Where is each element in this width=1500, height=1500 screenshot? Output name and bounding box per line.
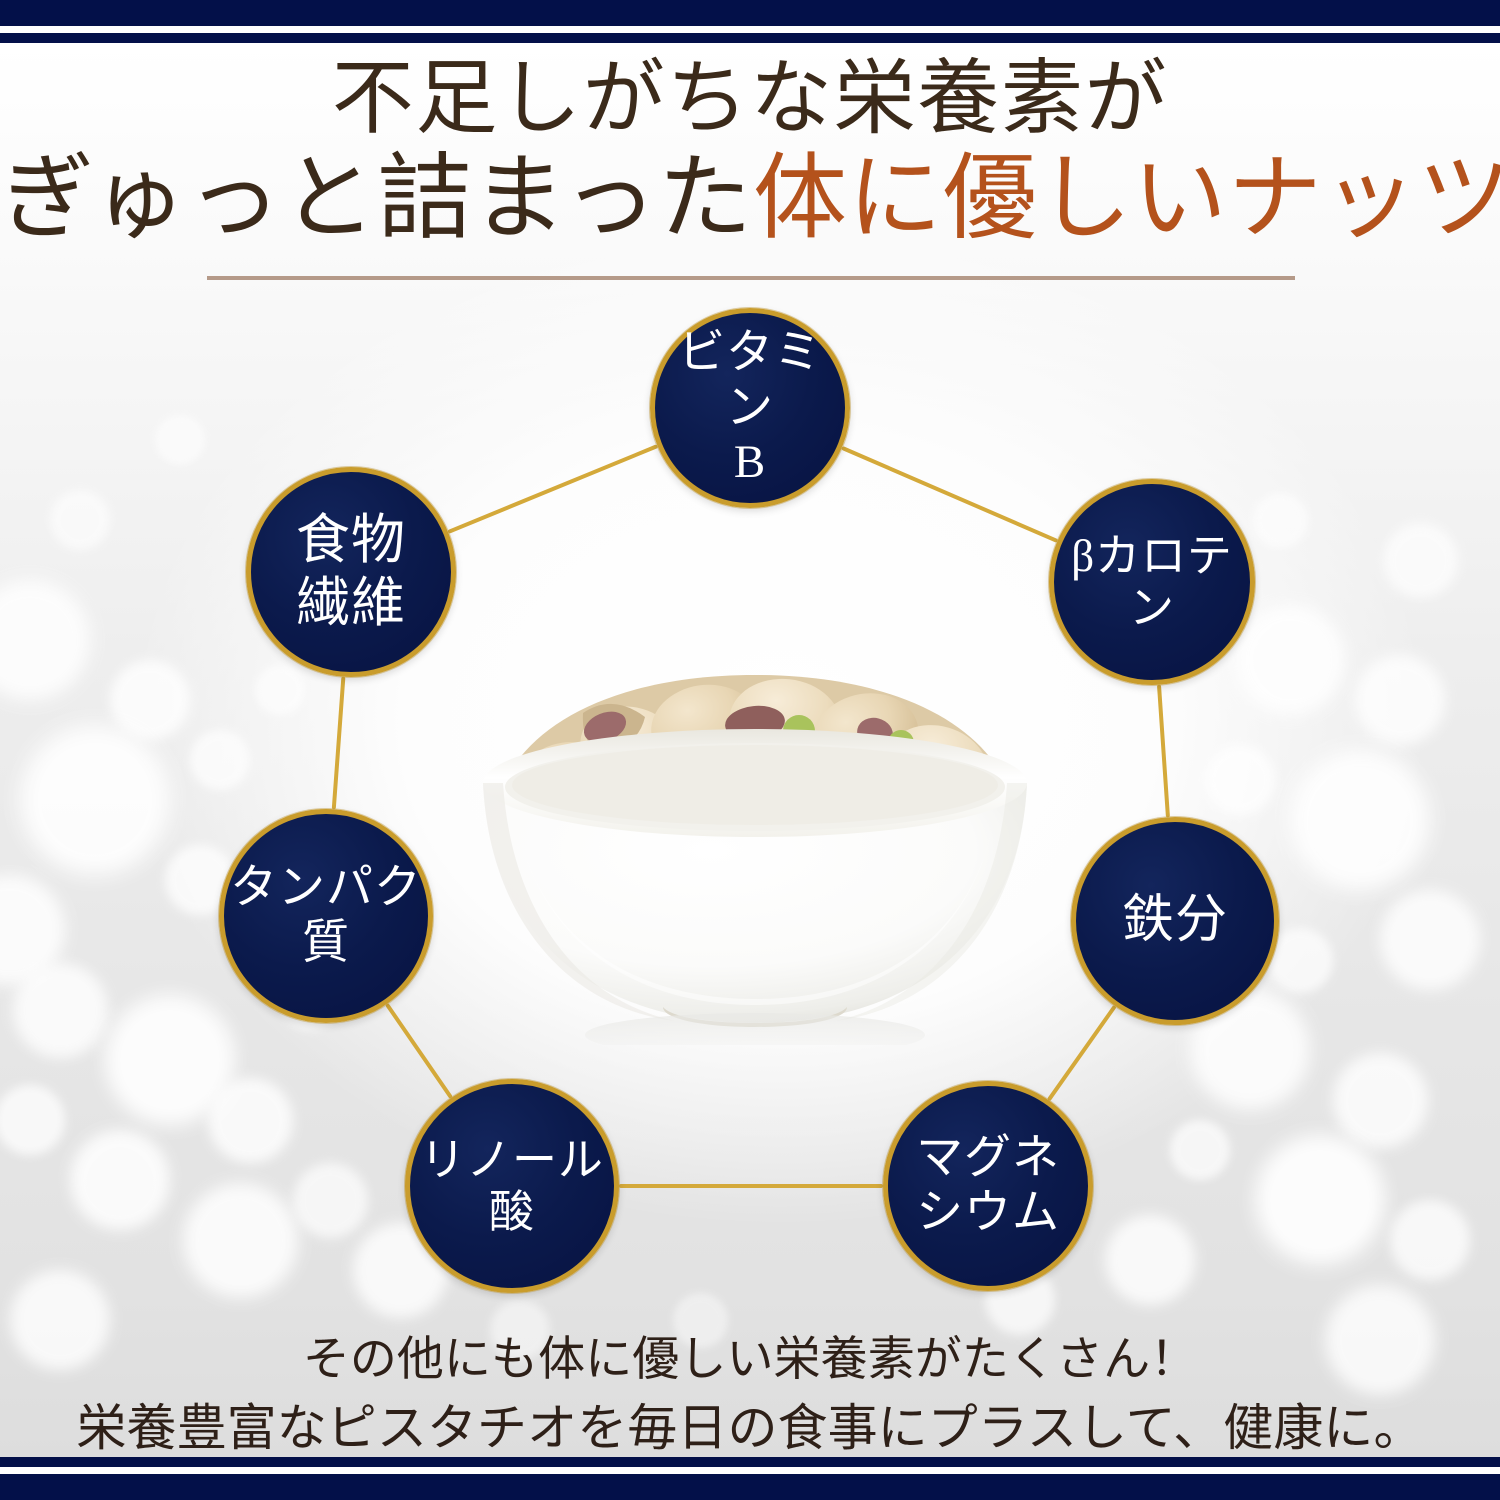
bokeh-circle: [1255, 1135, 1385, 1265]
headline-line-2-accent: 体に優しいナッツ: [753, 147, 1500, 251]
bokeh-circle: [255, 665, 305, 715]
bokeh-circle: [1105, 1215, 1195, 1305]
white-bowl: [483, 729, 1027, 1027]
bokeh-circle: [1253, 493, 1308, 548]
bokeh-circle: [293, 1163, 368, 1238]
headline-line-1: 不足しがちな栄養素が: [0, 58, 1500, 140]
node-protein[interactable]: タンパク質: [219, 809, 433, 1023]
headline-line-2-plain: ぎゅっと詰まった: [0, 147, 753, 251]
bokeh-circle: [110, 660, 190, 740]
infographic-page: 不足しがちな栄養素が ぎゅっと詰まった体に優しいナッツ ビタミンBβカロテン鉄分…: [0, 0, 1500, 1500]
page-title: 不足しがちな栄養素が ぎゅっと詰まった体に優しいナッツ: [0, 58, 1500, 246]
headline-line-2: ぎゅっと詰まった体に優しいナッツ: [0, 152, 1500, 246]
bokeh-circle: [0, 580, 90, 700]
top-thick-bar: [0, 0, 1500, 26]
bokeh-circle: [1205, 745, 1275, 815]
bokeh-circle: [1380, 890, 1480, 990]
bokeh-circle: [155, 415, 205, 465]
bokeh-circle: [1390, 1200, 1470, 1280]
node-label-iron: 鉄分: [1076, 891, 1274, 951]
node-label-dietary-fiber: 食物繊維: [251, 509, 451, 634]
bokeh-circle: [190, 730, 250, 790]
title-divider: [207, 276, 1295, 280]
bokeh-circle: [1290, 750, 1430, 890]
bottom-thick-bar: [0, 1474, 1500, 1500]
node-magnesium[interactable]: マグネシウム: [883, 1081, 1093, 1291]
node-beta-carotene[interactable]: βカロテン: [1049, 479, 1255, 685]
top-thin-bar: [0, 33, 1500, 43]
node-dietary-fiber[interactable]: 食物繊維: [246, 467, 456, 677]
bowl-reflection: [585, 1013, 925, 1045]
bokeh-circle: [208, 1078, 293, 1163]
bokeh-circle: [70, 1130, 170, 1230]
pistachio-bowl-photo: [455, 615, 1055, 1045]
bokeh-circle: [0, 1085, 65, 1155]
node-linoleic-acid[interactable]: リノール酸: [405, 1079, 619, 1293]
caption-line-2: 栄養豊富なピスタチオを毎日の食事にプラスして、健康に。: [0, 1396, 1500, 1460]
node-vitamin-b[interactable]: ビタミンB: [650, 308, 850, 508]
caption-line-1: その他にも体に優しい栄養素がたくさん！: [0, 1330, 1500, 1390]
node-label-protein: タンパク質: [224, 861, 428, 970]
node-label-beta-carotene: βカロテン: [1054, 530, 1250, 634]
node-label-magnesium: マグネシウム: [888, 1131, 1088, 1240]
bokeh-circle: [1355, 655, 1445, 745]
bokeh-circle: [20, 725, 170, 875]
bokeh-circle: [50, 490, 110, 550]
node-iron[interactable]: 鉄分: [1071, 817, 1279, 1025]
bokeh-circle: [1235, 605, 1345, 715]
bokeh-circle: [1333, 1053, 1428, 1148]
bokeh-circle: [1383, 523, 1458, 598]
bokeh-circle: [13, 963, 108, 1058]
node-label-vitamin-b: ビタミンB: [655, 326, 845, 490]
bokeh-circle: [183, 1183, 298, 1298]
bokeh-circle: [1170, 1120, 1230, 1180]
bottom-caption: その他にも体に優しい栄養素がたくさん！ 栄養豊富なピスタチオを毎日の食事にプラス…: [0, 1330, 1500, 1460]
node-label-linoleic-acid: リノール酸: [410, 1134, 614, 1238]
